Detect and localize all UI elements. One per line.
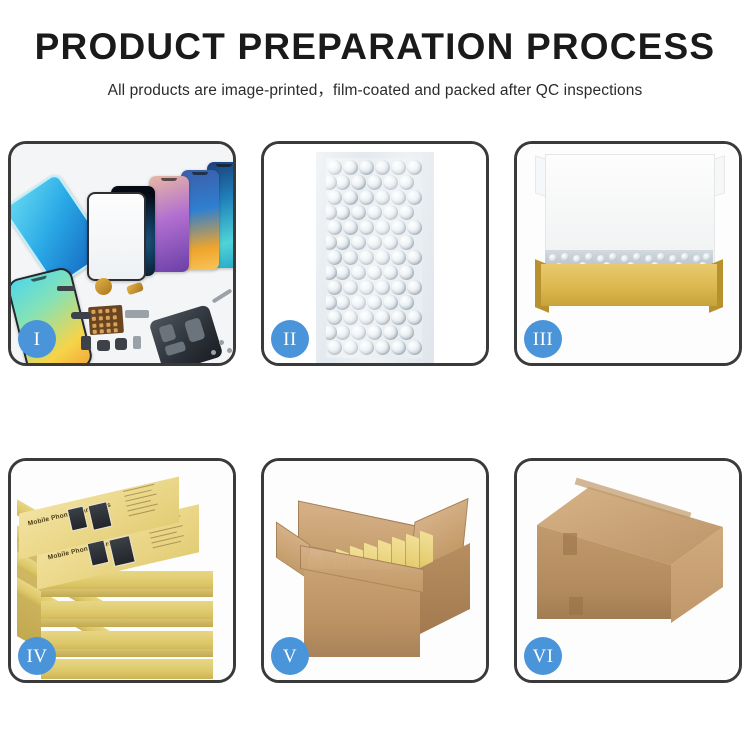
bubble-wrap-bubbles <box>326 158 422 358</box>
step-panel-5: V <box>261 458 489 683</box>
step-badge-1: I <box>18 320 56 358</box>
product-preparation-process-page: PRODUCT PREPARATION PROCESS All products… <box>0 0 750 750</box>
tempered-glass-panel <box>87 192 146 281</box>
step-panel-3: III <box>514 141 742 366</box>
ic-chip-array <box>88 305 124 335</box>
step-badge-5: V <box>271 637 309 675</box>
earpiece-mesh <box>97 340 110 351</box>
sim-tray <box>133 336 141 349</box>
metal-bracket <box>125 310 149 318</box>
step-badge-2: II <box>271 320 309 358</box>
screw-1 <box>219 340 224 345</box>
page-title: PRODUCT PREPARATION PROCESS <box>0 28 750 67</box>
speaker-component <box>95 278 112 295</box>
page-header: PRODUCT PREPARATION PROCESS All products… <box>0 0 750 100</box>
step-badge-3: III <box>524 320 562 358</box>
step-panel-2: II <box>261 141 489 366</box>
vibrator-motor <box>115 338 127 350</box>
step-panel-1: I <box>8 141 236 366</box>
process-steps-grid: I <box>8 141 742 683</box>
step-panel-6: VI <box>514 458 742 683</box>
page-subtitle: All products are image-printed，film-coat… <box>0 78 750 100</box>
step-panel-4: Mobile Phone Spare Parts Mobile Phone Sp… <box>8 458 236 683</box>
carton-fold-seam-left <box>563 533 577 555</box>
screw-3 <box>211 350 216 355</box>
step-badge-6: VI <box>524 637 562 675</box>
phone-purple <box>149 176 189 272</box>
flex-cable-2 <box>71 312 91 319</box>
step-badge-4: IV <box>18 637 56 675</box>
kraft-box-front <box>541 264 717 306</box>
camera-module <box>81 336 91 350</box>
carton-fold-seam-bottom <box>569 597 583 615</box>
screw-2 <box>227 348 232 353</box>
flex-cable-1 <box>57 286 75 291</box>
